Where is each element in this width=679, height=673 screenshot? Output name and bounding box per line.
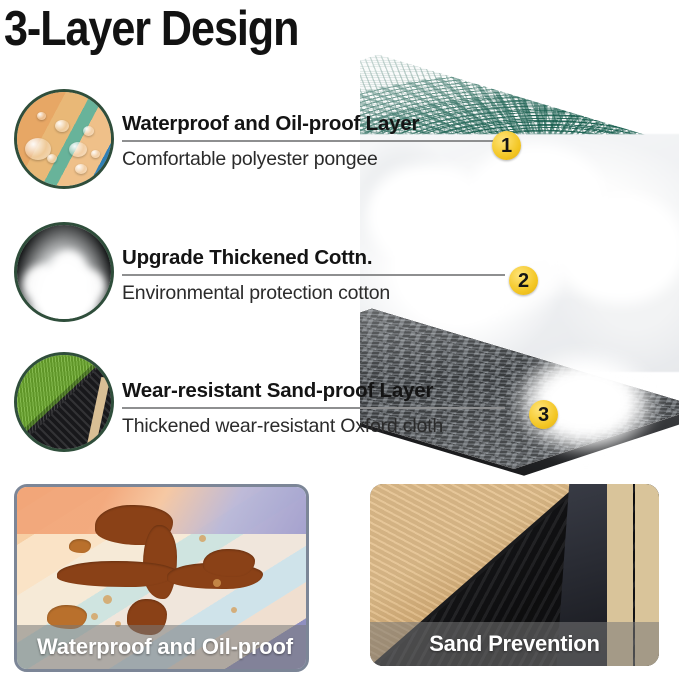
layer-1-subheading: Comfortable polyester pongee [122,148,505,171]
water-droplets-icon [17,92,111,186]
feature-panel-sand: Sand Prevention [370,484,659,666]
layer-2-divider [122,274,505,276]
thumbnail-sandproof [14,352,114,452]
feature-panel-waterproof: Waterproof and Oil-proof [14,484,309,672]
page-title: 3-Layer Design [4,2,298,56]
cotton-fiber-icon [17,225,111,319]
grass-and-mat-icon [17,355,111,449]
panel-1-caption: Waterproof and Oil-proof [17,625,306,669]
layer-3-subheading: Thickened wear-resistant Oxford cloth [122,415,505,438]
layer-row-3: Wear-resistant Sand-proof Layer Thickene… [122,379,505,438]
layer-2-subheading: Environmental protection cotton [122,282,505,305]
thumbnail-waterproof [14,89,114,189]
badge-3: 3 [529,400,558,429]
badge-1: 1 [492,131,521,160]
layer-3-heading: Wear-resistant Sand-proof Layer [122,379,505,403]
badge-2: 2 [509,266,538,295]
layer-3-divider [122,407,505,409]
layer-1-heading: Waterproof and Oil-proof Layer [122,112,505,136]
infographic-page: 3-Layer Design [0,0,679,673]
panel-2-caption: Sand Prevention [370,622,659,666]
thumbnail-cotton [14,222,114,322]
layer-row-2: Upgrade Thickened Cottn. Environmental p… [122,246,505,305]
layer-1-divider [122,140,505,142]
layer-2-heading: Upgrade Thickened Cottn. [122,246,505,270]
layer-row-1: Waterproof and Oil-proof Layer Comfortab… [122,112,505,171]
